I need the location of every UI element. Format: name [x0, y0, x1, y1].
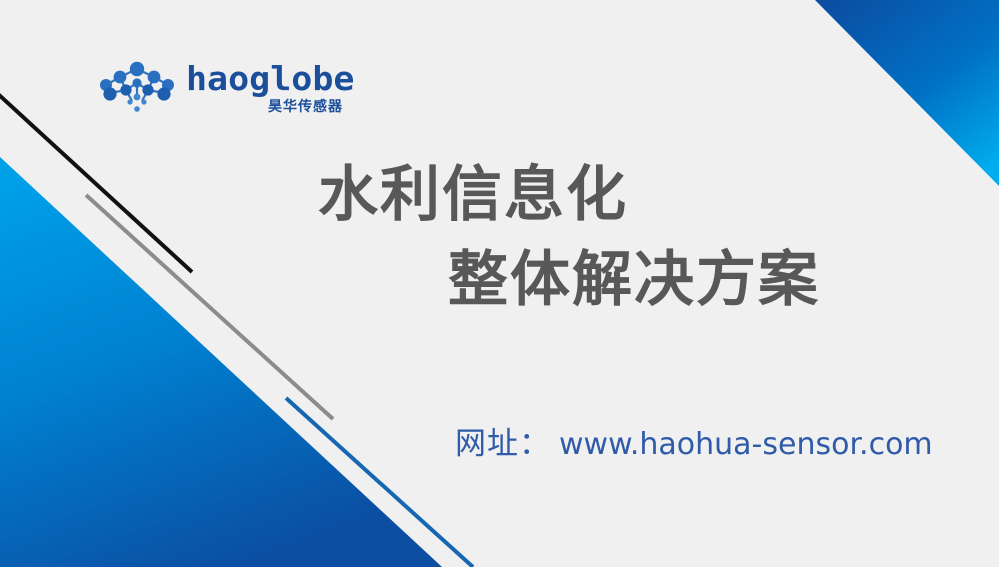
website-line: 网址： www.haohua-sensor.com [455, 418, 933, 463]
network-nodes-icon [96, 59, 178, 117]
right-blue-triangle [815, 0, 999, 186]
slide-canvas: haoglobe 昊华传感器 水利信息化 整体解决方案 网址： www.haoh… [0, 0, 999, 567]
logo-chinese-name: 昊华传感器 [268, 100, 343, 114]
title-line-1: 水利信息化 [318, 160, 999, 231]
page-title: 水利信息化 整体解决方案 [0, 160, 999, 316]
brand-logo: haoglobe 昊华传感器 [96, 57, 326, 119]
blue-diagonal-line [286, 398, 473, 567]
website-url[interactable]: www.haohua-sensor.com [559, 427, 933, 462]
logo-wordmark: haoglobe [186, 62, 354, 95]
website-label: 网址： [455, 418, 551, 463]
title-line-2: 整体解决方案 [448, 245, 999, 316]
logo-text-lockup: haoglobe 昊华传感器 [186, 62, 345, 114]
